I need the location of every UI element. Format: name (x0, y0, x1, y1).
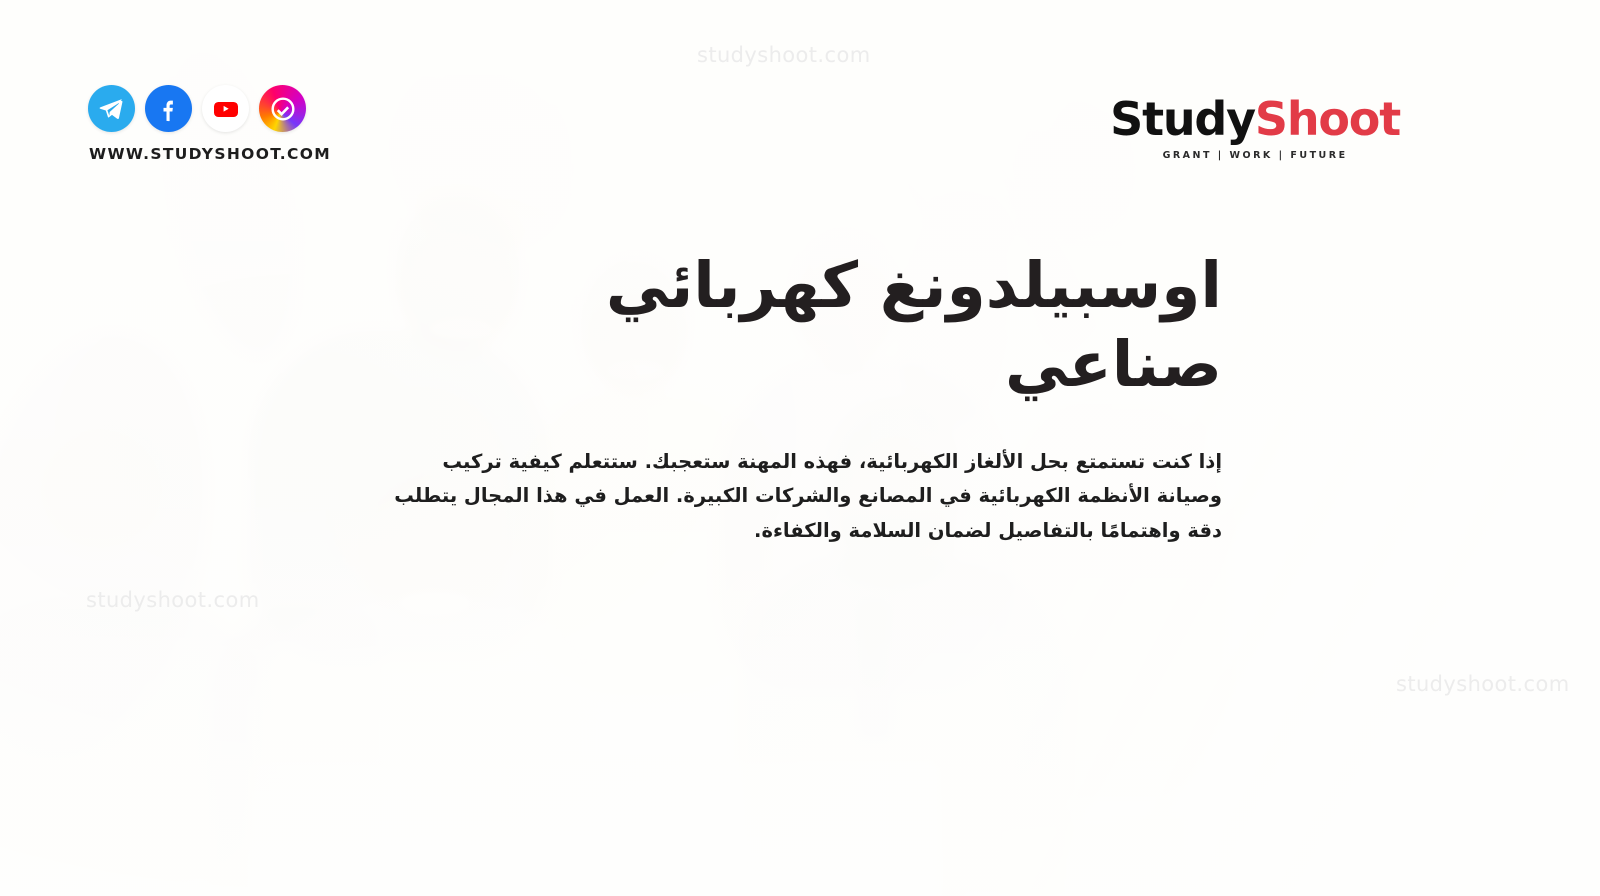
promo-banner: studyshoot.com studyshoot.com studyshoot… (0, 0, 1600, 896)
telegram-icon[interactable] (88, 85, 135, 132)
watermark-left: studyshoot.com (86, 588, 260, 612)
logo-word-study: Study (1110, 92, 1255, 146)
headline-line-1: اوسبيلدونغ كهربائي (606, 249, 1222, 322)
headline-line-2: صناعي (1005, 328, 1222, 401)
facebook-icon[interactable] (145, 85, 192, 132)
hero-content: اوسبيلدونغ كهربائي صناعي إذا كنت تستمتع … (392, 246, 1222, 549)
youtube-icon[interactable] (202, 85, 249, 132)
studyshoot-logo: StudyShoot GRANT | WORK | FUTURE (1110, 96, 1400, 161)
page-title: اوسبيلدونغ كهربائي صناعي (392, 246, 1222, 405)
watermark-top: studyshoot.com (697, 43, 871, 67)
website-url-label: WWW.STUDYSHOOT.COM (89, 145, 331, 163)
instagram-verified-icon[interactable] (259, 85, 306, 132)
logo-wordmark: StudyShoot (1110, 96, 1400, 142)
logo-word-shoot: Shoot (1255, 92, 1400, 146)
social-links-bar (88, 85, 306, 132)
watermark-right: studyshoot.com (1396, 672, 1570, 696)
logo-tagline: GRANT | WORK | FUTURE (1110, 150, 1400, 161)
hero-description: إذا كنت تستمتع بحل الألغاز الكهربائية، ف… (392, 445, 1222, 549)
